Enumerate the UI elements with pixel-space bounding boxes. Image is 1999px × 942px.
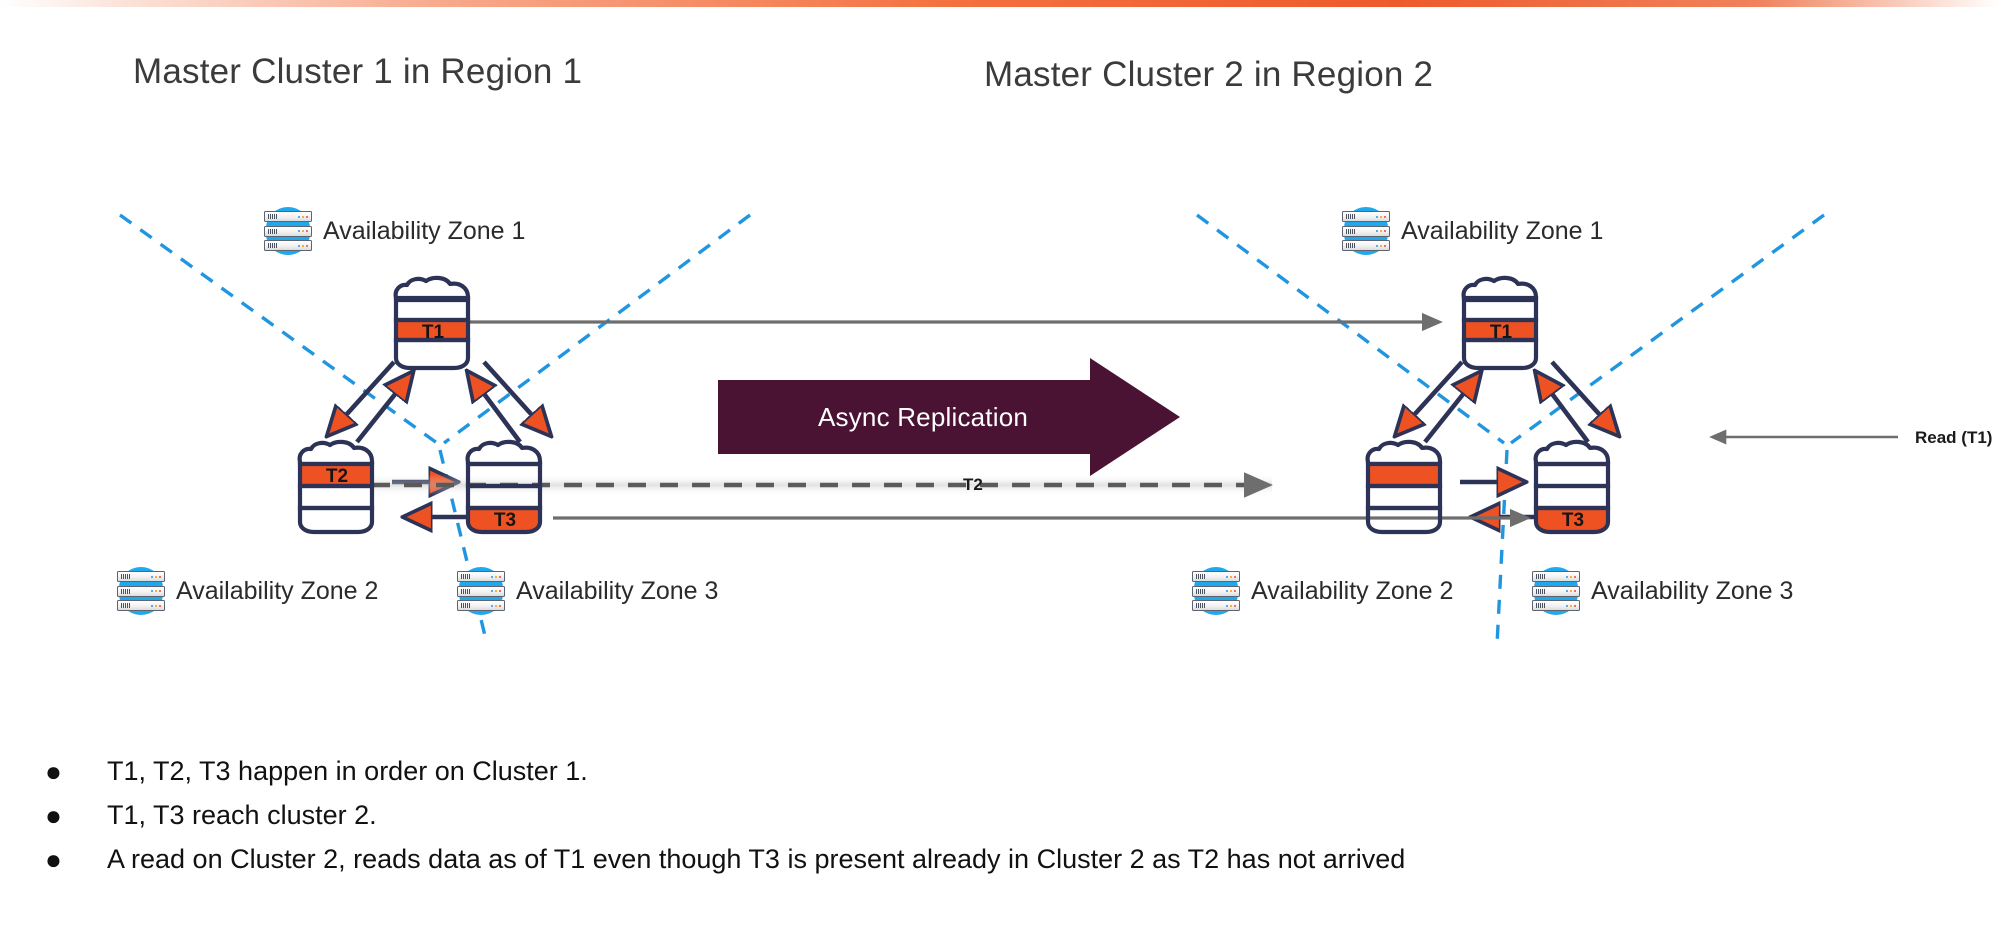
db-cluster2-az2 [1360, 440, 1450, 536]
bullet-marker: ● [45, 796, 63, 836]
bullet-text: A read on Cluster 2, reads data as of T1… [107, 840, 1405, 879]
bullet-marker: ● [45, 840, 63, 880]
db-cluster1-az1: T1 [388, 276, 478, 372]
zone-label: Availability Zone 3 [1591, 577, 1793, 606]
t2-wire-label: T2 [963, 475, 983, 495]
server-rack-icon [115, 565, 167, 617]
list-item: ● T1, T2, T3 happen in order on Cluster … [45, 752, 1545, 792]
db-cluster1-az3: T3 [460, 440, 550, 536]
zone-label: Availability Zone 1 [323, 217, 525, 246]
c2-availability-zone-2: Availability Zone 2 [1190, 565, 1453, 617]
zone-label: Availability Zone 2 [176, 577, 378, 606]
c1-availability-zone-1: Availability Zone 1 [262, 205, 525, 257]
c1-availability-zone-2: Availability Zone 2 [115, 565, 378, 617]
server-rack-icon [1190, 565, 1242, 617]
zone-label: Availability Zone 3 [516, 577, 718, 606]
bullet-marker: ● [45, 752, 63, 792]
cluster-1-title: Master Cluster 1 in Region 1 [133, 52, 582, 92]
summary-bullet-list: ● T1, T2, T3 happen in order on Cluster … [45, 752, 1545, 884]
bullet-text: T1, T3 reach cluster 2. [107, 796, 377, 835]
db-cluster2-az1: T1 [1456, 276, 1546, 372]
bullet-text: T1, T2, T3 happen in order on Cluster 1. [107, 752, 588, 791]
zone-label: Availability Zone 1 [1401, 217, 1603, 246]
slide-canvas: Master Cluster 1 in Region 1 Master Clus… [0, 0, 1999, 942]
server-rack-icon [262, 205, 314, 257]
zone-label: Availability Zone 2 [1251, 577, 1453, 606]
cluster-2-title: Master Cluster 2 in Region 2 [984, 55, 1433, 95]
c2-availability-zone-1: Availability Zone 1 [1340, 205, 1603, 257]
list-item: ● T1, T3 reach cluster 2. [45, 796, 1545, 836]
read-t1-label: Read (T1) [1915, 428, 1992, 448]
db-cluster2-az3: T3 [1528, 440, 1618, 536]
db-cluster1-az2: T2 [292, 440, 382, 536]
server-rack-icon [455, 565, 507, 617]
c1-availability-zone-3: Availability Zone 3 [455, 565, 718, 617]
async-replication-arrow: Async Replication [718, 358, 1180, 476]
server-rack-icon [1530, 565, 1582, 617]
async-replication-label: Async Replication [718, 358, 1180, 476]
server-rack-icon [1340, 205, 1392, 257]
top-accent-bar [0, 0, 1999, 7]
list-item: ● A read on Cluster 2, reads data as of … [45, 840, 1545, 880]
c2-availability-zone-3: Availability Zone 3 [1530, 565, 1793, 617]
